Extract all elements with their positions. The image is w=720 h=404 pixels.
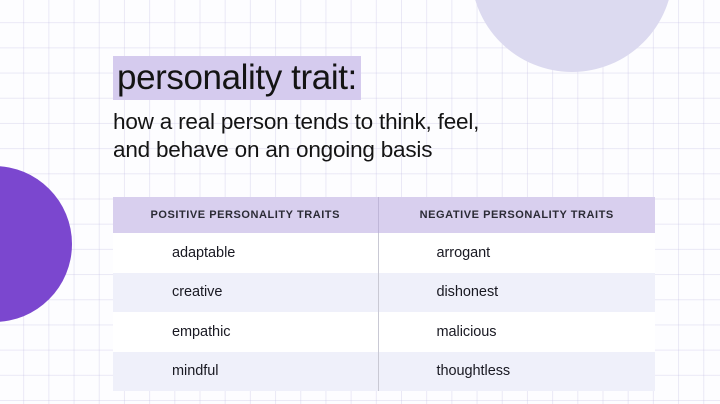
table-row: empathic malicious	[113, 312, 655, 352]
table-row: adaptable arrogant	[113, 233, 655, 273]
table-row: creative dishonest	[113, 273, 655, 313]
table-header: POSITIVE PERSONALITY TRAITS NEGATIVE PER…	[113, 197, 655, 233]
slide-canvas: personality trait: how a real person ten…	[0, 0, 720, 404]
cell-positive-trait: adaptable	[113, 233, 378, 273]
cell-positive-trait: empathic	[113, 312, 378, 352]
subtitle-line-2: and behave on an ongoing basis	[113, 136, 633, 164]
page-title: personality trait:	[113, 56, 361, 100]
lavender-circle-decoration	[471, 0, 673, 72]
column-header-positive: POSITIVE PERSONALITY TRAITS	[113, 197, 378, 233]
cell-negative-trait: arrogant	[378, 233, 655, 273]
heading-container: personality trait:	[113, 56, 361, 100]
cell-positive-trait: creative	[113, 273, 378, 313]
cell-positive-trait: mindful	[113, 352, 378, 392]
purple-circle-decoration	[0, 166, 72, 322]
column-header-negative: NEGATIVE PERSONALITY TRAITS	[378, 197, 655, 233]
personality-traits-table: POSITIVE PERSONALITY TRAITS NEGATIVE PER…	[113, 197, 655, 391]
table-body: adaptable arrogant creative dishonest em…	[113, 233, 655, 391]
cell-negative-trait: thoughtless	[378, 352, 655, 392]
table-row: mindful thoughtless	[113, 352, 655, 392]
cell-negative-trait: dishonest	[378, 273, 655, 313]
table-header-row: POSITIVE PERSONALITY TRAITS NEGATIVE PER…	[113, 197, 655, 233]
cell-negative-trait: malicious	[378, 312, 655, 352]
slide-subtitle: how a real person tends to think, feel, …	[113, 108, 633, 163]
subtitle-line-1: how a real person tends to think, feel,	[113, 108, 633, 136]
